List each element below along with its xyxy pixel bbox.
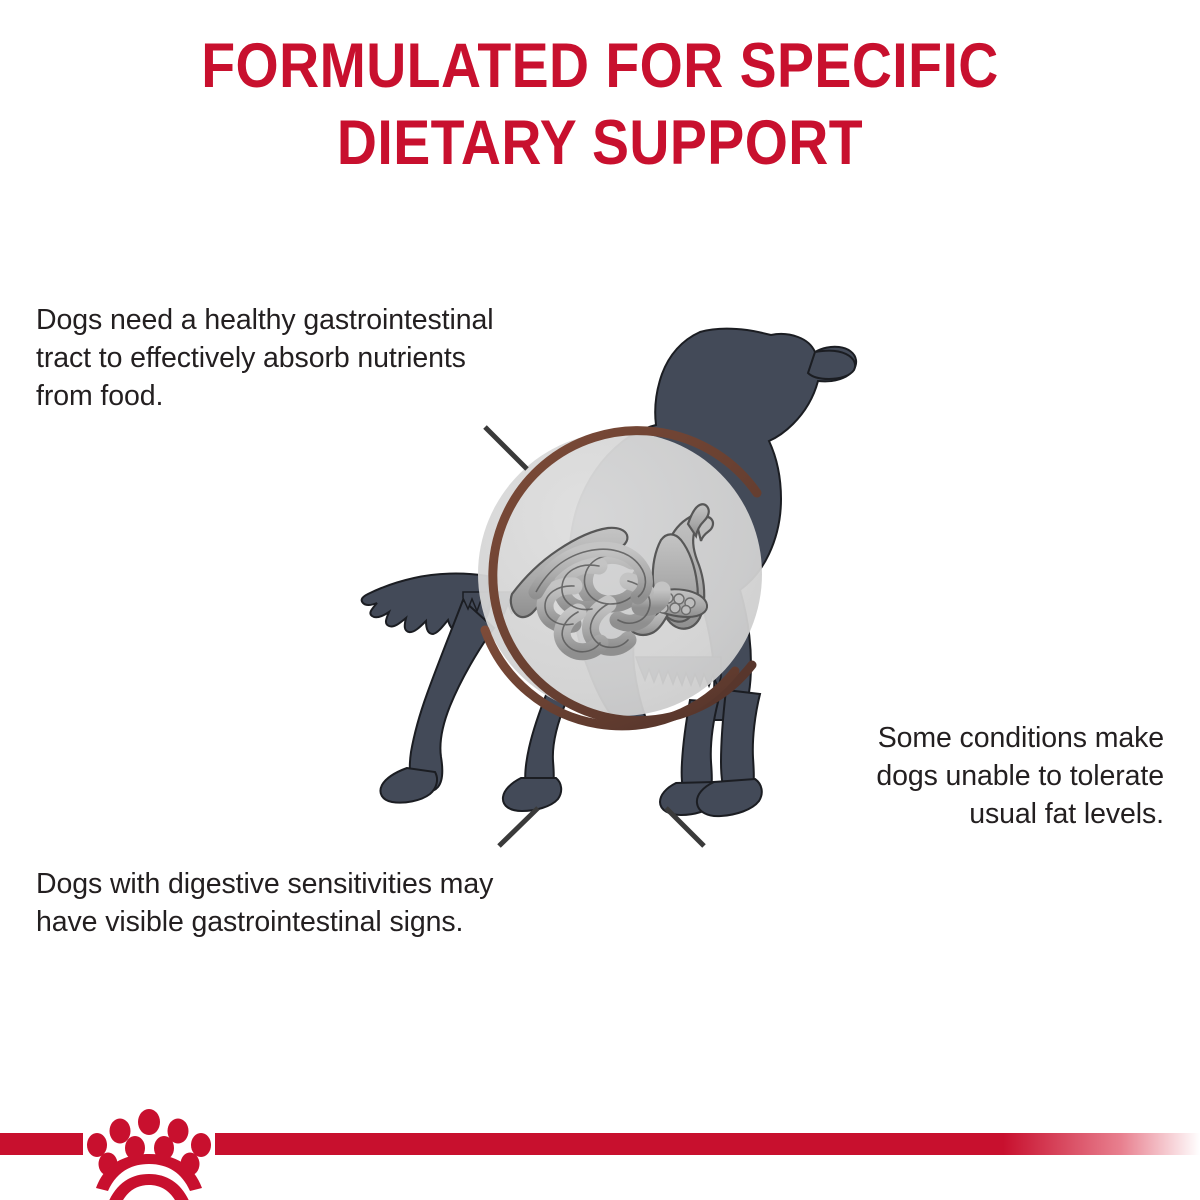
cutaway-circle-fill xyxy=(478,432,762,716)
dog-rear-paw-far xyxy=(380,768,437,803)
dog-muzzle xyxy=(808,351,855,379)
dog-anatomy-illustration xyxy=(0,0,1200,1200)
infographic-page: FORMULATED FOR SPECIFIC DIETARY SUPPORT xyxy=(0,0,1200,1200)
dog-rear-paw-near xyxy=(503,778,561,811)
